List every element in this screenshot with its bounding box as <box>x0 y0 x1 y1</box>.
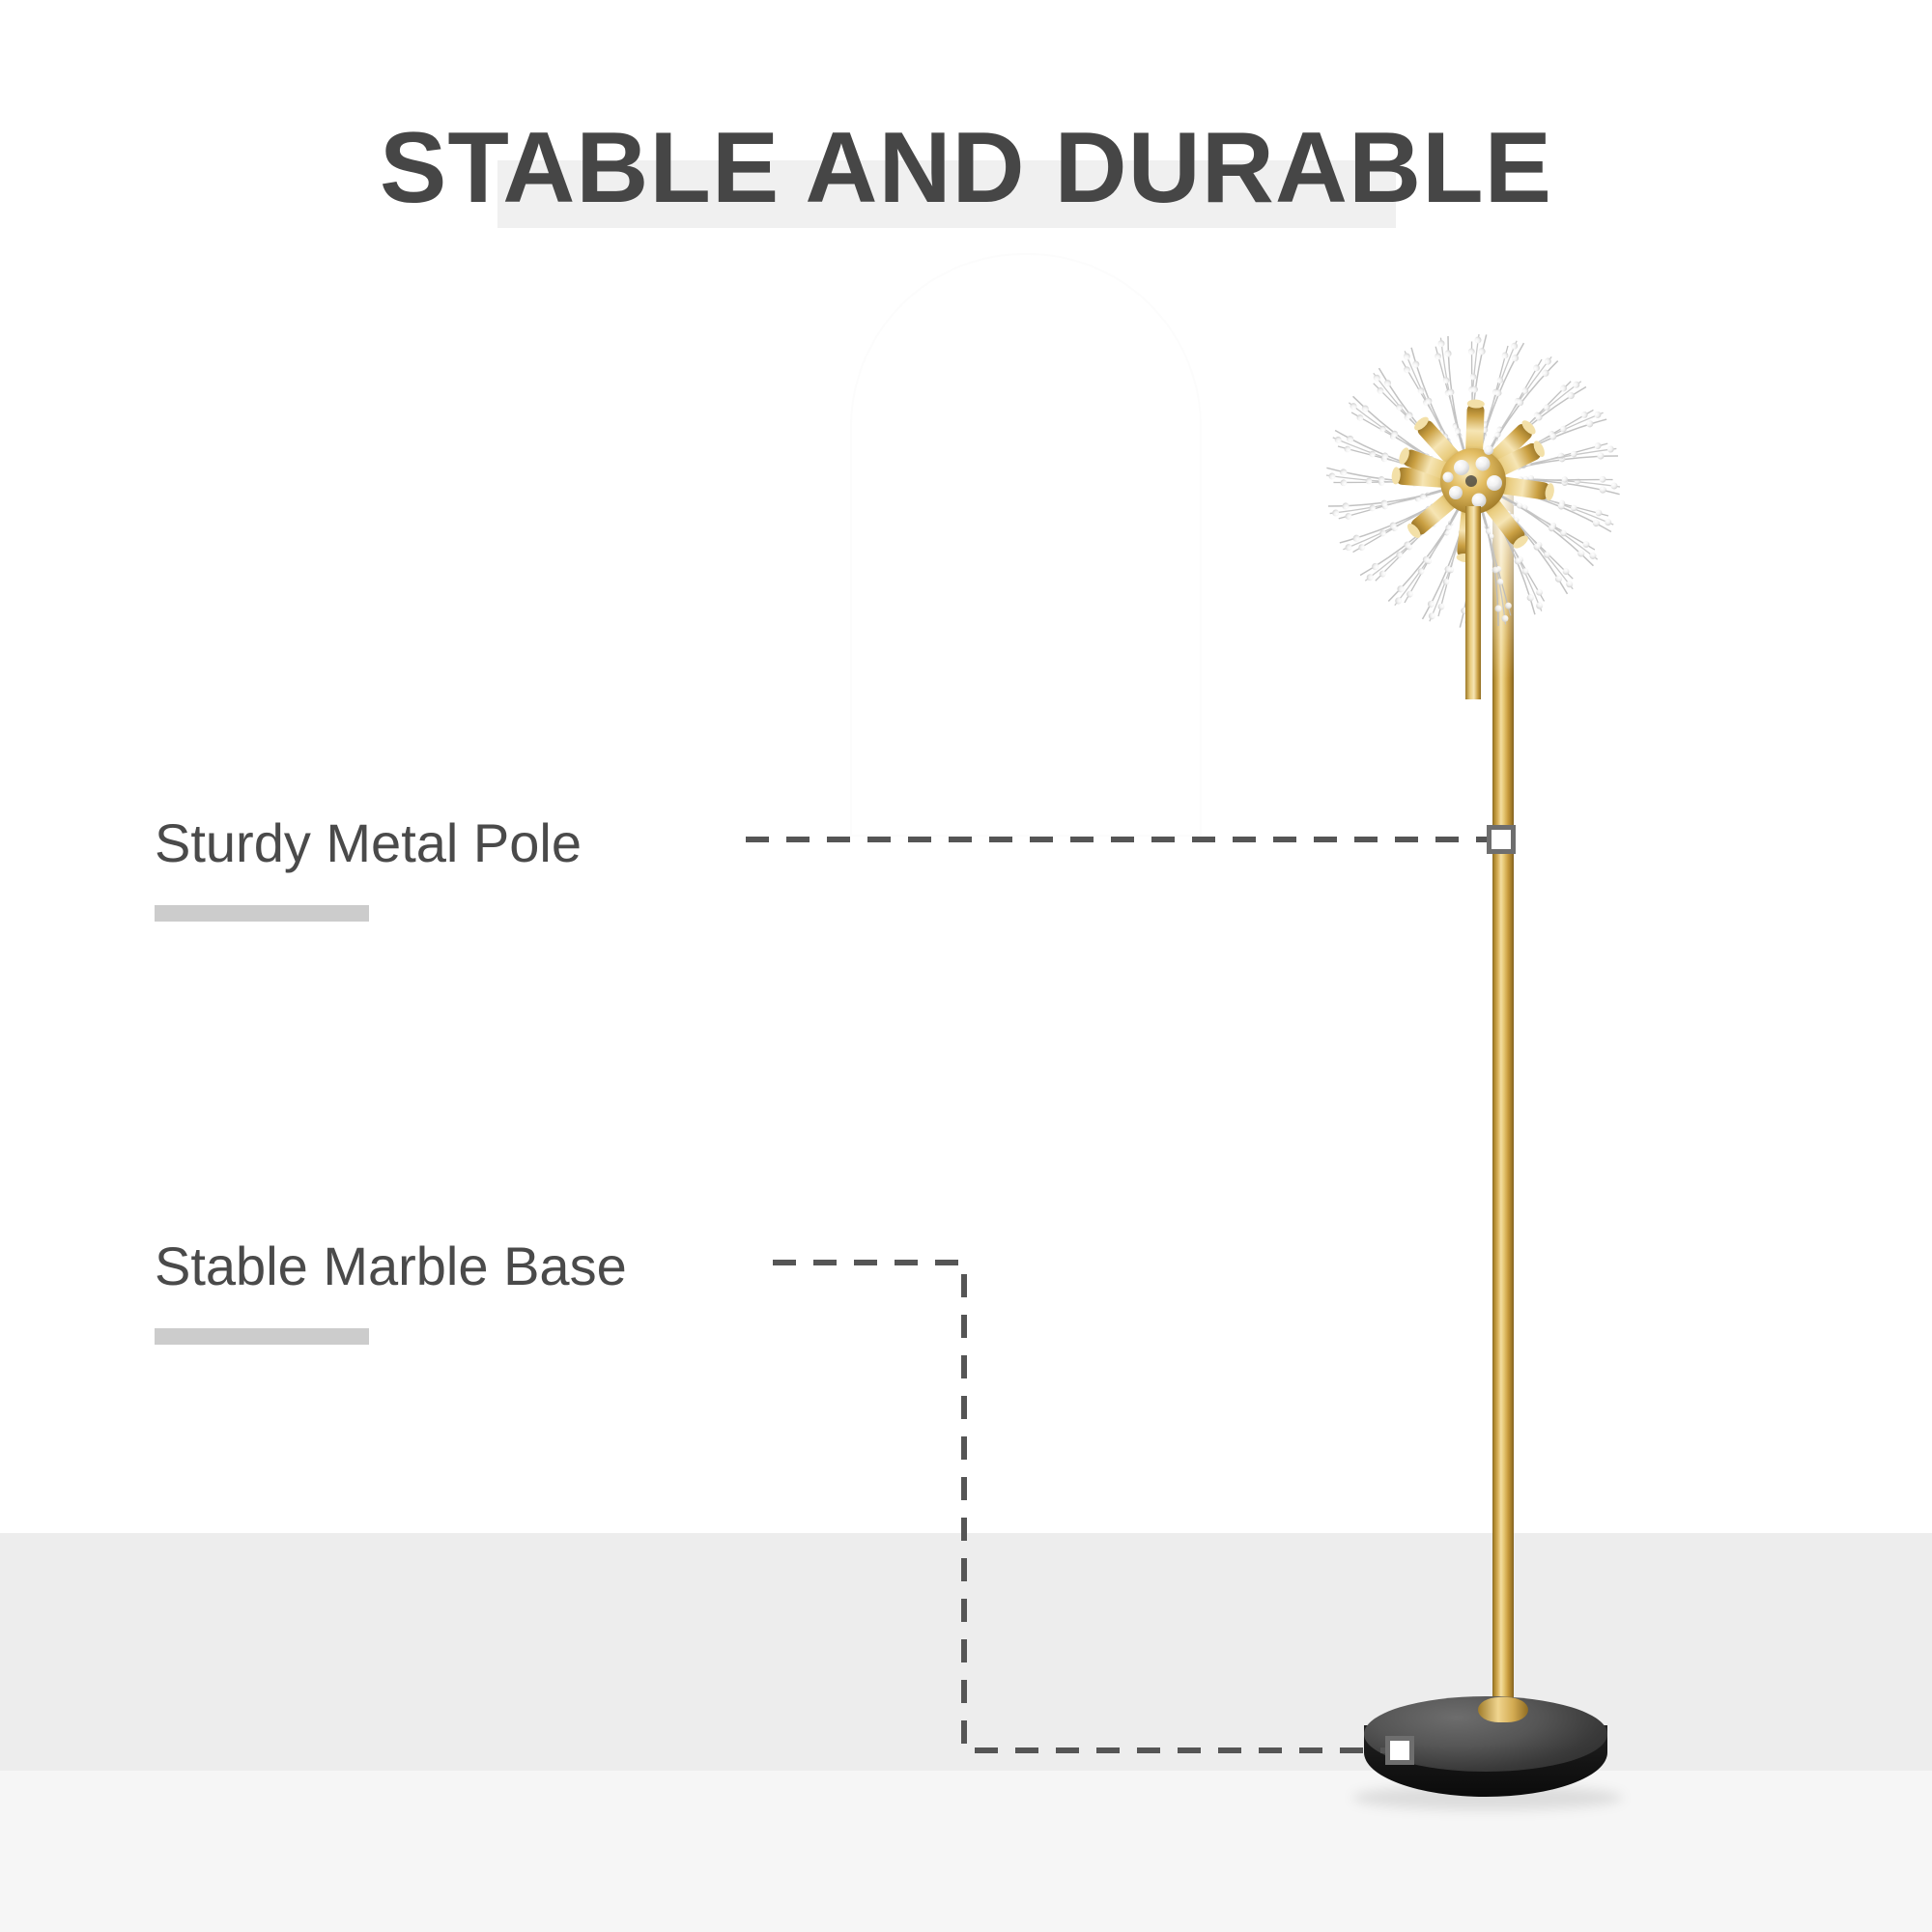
callout-underline-stable-marble-base <box>155 1328 369 1345</box>
callout-leader-lines <box>0 0 1932 1932</box>
callout-sturdy-metal-pole: Sturdy Metal Pole <box>155 816 582 922</box>
callout-stable-marble-base: Stable Marble Base <box>155 1239 627 1345</box>
callout-underline-sturdy-metal-pole <box>155 905 369 922</box>
leader-line-base <box>773 1263 1385 1750</box>
infographic-canvas: STABLE AND DURABLE <box>0 0 1932 1932</box>
callout-label-sturdy-metal-pole: Sturdy Metal Pole <box>155 816 582 870</box>
callout-label-stable-marble-base: Stable Marble Base <box>155 1239 627 1293</box>
callout-marker-marble-base[interactable] <box>1385 1736 1414 1765</box>
callout-marker-pole[interactable] <box>1487 825 1516 854</box>
